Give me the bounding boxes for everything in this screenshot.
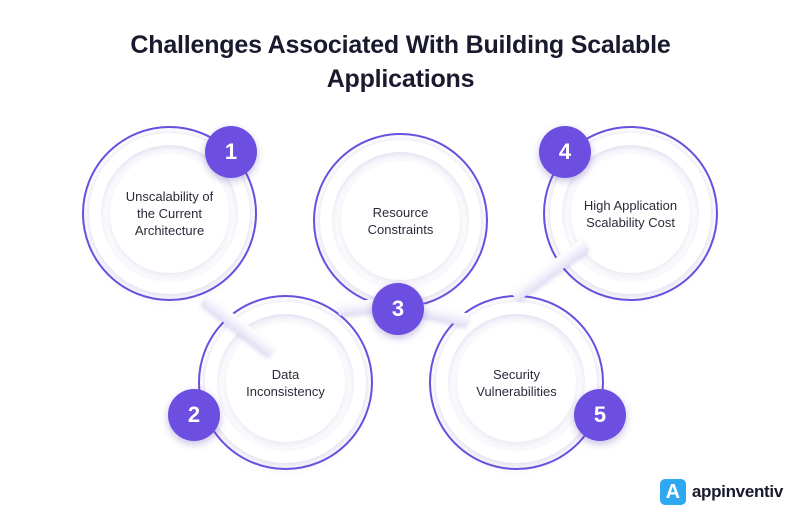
appinventiv-logo-icon: A xyxy=(660,479,686,505)
node-4-inner: High Application Scalability Cost xyxy=(571,154,690,273)
node-1-badge: 1 xyxy=(205,126,257,178)
node-3-badge: 3 xyxy=(372,283,424,335)
node-1-inner: Unscalability of the Current Architectur… xyxy=(110,154,229,273)
appinventiv-logo: A appinventiv xyxy=(660,479,783,505)
node-5-badge: 5 xyxy=(574,389,626,441)
node-3-label: Resource Constraints xyxy=(341,204,460,238)
node-5-label: Security Vulnerabilities xyxy=(457,366,576,400)
node-2-label: Data Inconsistency xyxy=(226,366,345,400)
node-3[interactable]: Resource Constraints xyxy=(313,133,488,308)
node-2-badge: 2 xyxy=(168,389,220,441)
logo-letter-a: A xyxy=(660,479,686,505)
node-3-inner: Resource Constraints xyxy=(341,161,460,280)
node-2-inner: Data Inconsistency xyxy=(226,323,345,442)
circular-node-diagram: Unscalability of the Current Architectur… xyxy=(0,0,801,521)
node-1-label: Unscalability of the Current Architectur… xyxy=(110,188,229,239)
appinventiv-wordmark: appinventiv xyxy=(692,482,783,502)
node-4-label: High Application Scalability Cost xyxy=(571,197,690,231)
node-4-badge: 4 xyxy=(539,126,591,178)
node-5-inner: Security Vulnerabilities xyxy=(457,323,576,442)
